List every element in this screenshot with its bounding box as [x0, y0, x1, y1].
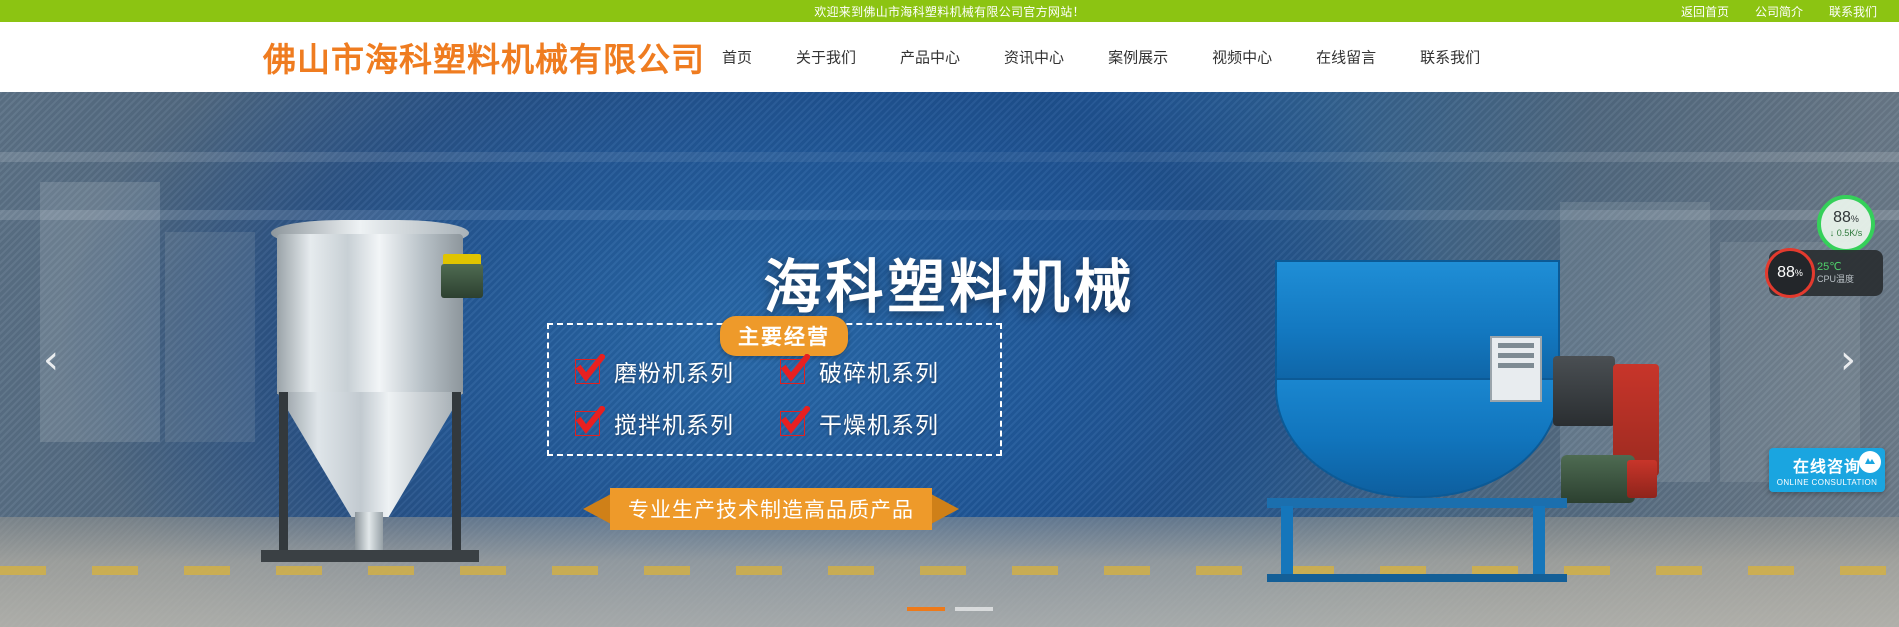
nav-item-news-center[interactable]: 资讯中心 [982, 47, 1086, 68]
slogan-text: 专业生产技术制造高品质产品 [610, 488, 932, 530]
cpu-usage-ring: 88% [1765, 248, 1815, 298]
top-link-contact-us[interactable]: 联系我们 [1829, 3, 1877, 20]
business-item-label: 搅拌机系列 [614, 406, 734, 440]
cpu-temperature-value: 25℃ [1817, 261, 1854, 275]
online-consultation-button[interactable]: 在线咨询 ONLINE CONSULTATION [1769, 448, 1885, 492]
top-utility-bar: 欢迎来到佛山市海科塑料机械有限公司官方网站！ 返回首页 公司简介 联系我们 [0, 0, 1899, 22]
carousel-indicators [0, 607, 1899, 611]
nav-item-home[interactable]: 首页 [700, 47, 774, 68]
main-business-badge: 主要经营 [720, 316, 848, 356]
nav-item-contact-us[interactable]: 联系我们 [1398, 47, 1502, 68]
business-item-dryer: 干燥机系列 [780, 406, 985, 440]
business-item-crusher: 破碎机系列 [780, 354, 985, 388]
hero-banner-carousel[interactable]: 海科塑料机械 主要经营 磨粉机系列 破碎机系列 搅拌机系列 干燥机系列 [0, 92, 1899, 627]
chat-bubble-icon [1859, 451, 1881, 473]
network-speed-widget[interactable]: 88% ↓ 0.5K/s [1817, 195, 1875, 253]
slogan-ribbon: 专业生产技术制造高品质产品 [583, 488, 959, 530]
carousel-dot-1[interactable] [907, 607, 945, 611]
ribbon-tail-left [583, 494, 611, 524]
nav-item-online-message[interactable]: 在线留言 [1294, 47, 1398, 68]
network-percent: 88% [1833, 210, 1859, 226]
top-quick-links: 返回首页 公司简介 联系我们 [1681, 3, 1877, 20]
checkmark-icon [575, 359, 600, 384]
cpu-temperature-label: CPU温度 [1817, 274, 1854, 285]
banner-headline: 海科塑料机械 [0, 240, 1899, 324]
main-navigation: 首页 关于我们 产品中心 资讯中心 案例展示 视频中心 在线留言 联系我们 [700, 47, 1879, 68]
site-header: 佛山市海科塑料机械有限公司 首页 关于我们 产品中心 资讯中心 案例展示 视频中… [0, 22, 1899, 92]
cpu-info: 25℃ CPU温度 [1817, 261, 1854, 286]
main-business-list: 磨粉机系列 破碎机系列 搅拌机系列 干燥机系列 [575, 354, 985, 440]
checkmark-icon [780, 411, 805, 436]
business-item-label: 破碎机系列 [819, 354, 939, 388]
site-logo[interactable]: 佛山市海科塑料机械有限公司 [263, 33, 705, 81]
cpu-monitor-widget[interactable]: 88% 25℃ CPU温度 [1769, 250, 1883, 296]
carousel-prev-arrow-icon[interactable]: ‹ [34, 330, 68, 390]
nav-item-video-center[interactable]: 视频中心 [1190, 47, 1294, 68]
business-item-grinder: 磨粉机系列 [575, 354, 780, 388]
carousel-next-arrow-icon[interactable]: › [1831, 330, 1865, 390]
nav-item-about-us[interactable]: 关于我们 [774, 47, 878, 68]
checkmark-icon [575, 411, 600, 436]
welcome-message: 欢迎来到佛山市海科塑料机械有限公司官方网站！ [0, 3, 1899, 20]
business-item-label: 干燥机系列 [819, 406, 939, 440]
nav-item-product-center[interactable]: 产品中心 [878, 47, 982, 68]
ribbon-tail-right [931, 494, 959, 524]
checkmark-icon [780, 359, 805, 384]
top-link-home[interactable]: 返回首页 [1681, 3, 1729, 20]
ceiling-beam [0, 152, 1899, 162]
top-link-company-profile[interactable]: 公司简介 [1755, 3, 1803, 20]
consultation-label-cn: 在线咨询 [1793, 453, 1861, 477]
business-item-mixer: 搅拌机系列 [575, 406, 780, 440]
network-rate: ↓ 0.5K/s [1830, 228, 1863, 238]
carousel-dot-2[interactable] [955, 607, 993, 611]
nav-item-case-showcase[interactable]: 案例展示 [1086, 47, 1190, 68]
consultation-label-en: ONLINE CONSULTATION [1777, 478, 1878, 487]
business-item-label: 磨粉机系列 [614, 354, 734, 388]
